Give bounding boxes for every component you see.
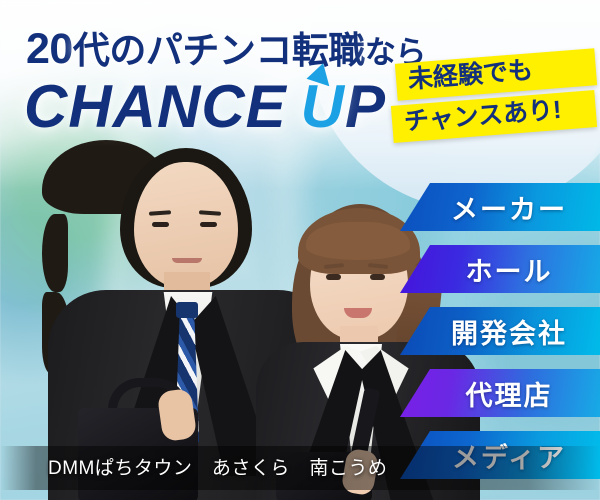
headline: 20代のパチンコ転職なら bbox=[26, 20, 426, 74]
menu-item-developer-label: 開発会社 bbox=[433, 312, 567, 351]
headline-number: 20 bbox=[26, 25, 73, 73]
man-tie-knot bbox=[176, 302, 198, 318]
woman-bangs bbox=[306, 222, 410, 260]
caption-text: DMMぱちタウン あさくら 南こうめ bbox=[48, 453, 387, 480]
man-eye-left bbox=[152, 222, 169, 227]
woman-eye-left bbox=[326, 274, 341, 280]
highlight-badge: 未経験でも チャンスあり! bbox=[396, 56, 596, 135]
menu-item-maker-label: メーカー bbox=[433, 188, 567, 227]
woman-eye-right bbox=[370, 274, 385, 280]
logo-word-chance: CHANCE bbox=[24, 73, 287, 140]
man-hair-side-left bbox=[42, 214, 68, 292]
category-menu: メーカー ホール 開発会社 代理店 メディア bbox=[400, 183, 600, 479]
logo-letter-u: U bbox=[301, 72, 345, 141]
menu-item-hall[interactable]: ホール bbox=[400, 245, 600, 293]
man-eye-right bbox=[200, 222, 217, 227]
menu-item-developer[interactable]: 開発会社 bbox=[400, 307, 600, 355]
menu-item-maker[interactable]: メーカー bbox=[400, 183, 600, 231]
logo-letter-p: P bbox=[345, 73, 386, 140]
man-mouth bbox=[172, 258, 202, 263]
recruitment-banner: 20代のパチンコ転職なら CHANCEUP 未経験でも チャンスあり! メーカー… bbox=[0, 0, 600, 500]
menu-item-agency[interactable]: 代理店 bbox=[400, 369, 600, 417]
logo-chance-up: CHANCEUP bbox=[24, 72, 386, 141]
man-face bbox=[134, 162, 238, 288]
menu-item-agency-label: 代理店 bbox=[448, 374, 553, 413]
menu-item-hall-label: ホール bbox=[448, 250, 553, 289]
